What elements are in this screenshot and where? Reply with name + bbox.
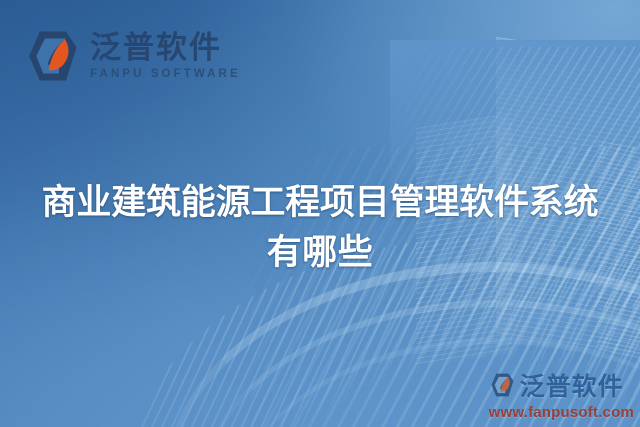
fanpu-hexagon-logo-icon <box>489 372 515 398</box>
fanpu-hexagon-logo-icon <box>24 28 80 84</box>
page-title-line-1: 商业建筑能源工程项目管理软件系统 <box>0 178 640 228</box>
brand-logo: 泛普软件 FANPU SOFTWARE <box>24 28 241 84</box>
promo-banner: 泛普软件 FANPU SOFTWARE 商业建筑能源工程项目管理软件系统 有哪些… <box>0 0 640 427</box>
brand-name-en: FANPU SOFTWARE <box>90 69 241 81</box>
page-title: 商业建筑能源工程项目管理软件系统 有哪些 <box>0 178 640 278</box>
watermark: 泛普软件 www.fanpusoft.com <box>489 367 634 421</box>
brand-name-cn: 泛普软件 <box>90 32 241 63</box>
watermark-logo-row: 泛普软件 <box>489 367 634 403</box>
watermark-brand-name: 泛普软件 <box>520 367 624 403</box>
page-title-line-2: 有哪些 <box>0 228 640 278</box>
watermark-url: www.fanpusoft.com <box>489 404 634 421</box>
brand-wordmark: 泛普软件 FANPU SOFTWARE <box>90 32 241 81</box>
